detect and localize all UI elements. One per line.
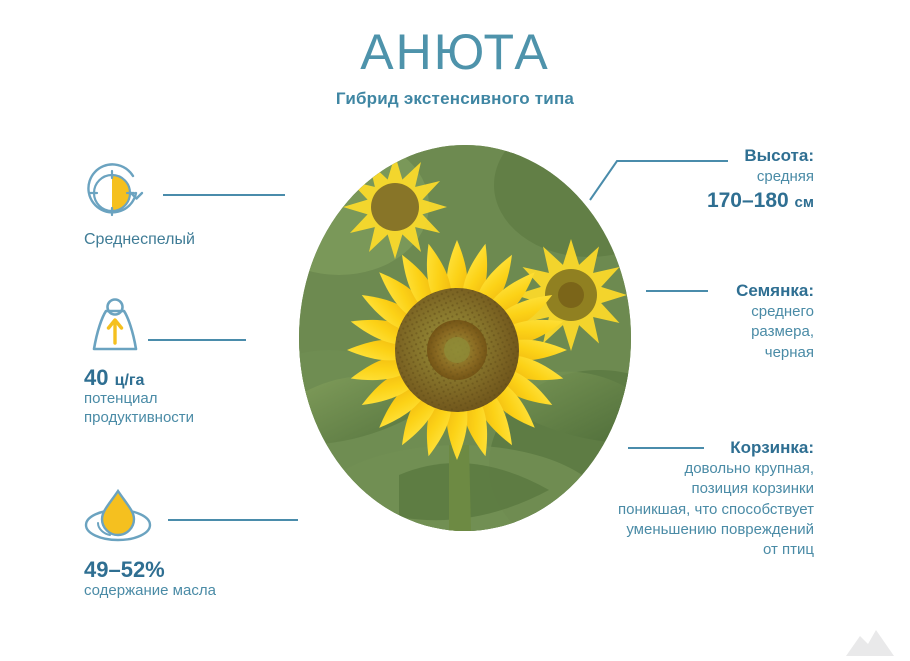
yield-caption-line-2: продуктивности — [84, 409, 194, 428]
head-line-4: уменьшению повреждений — [484, 520, 814, 540]
maturity-label: Среднеспелый — [84, 230, 195, 250]
yield-text: 40 ц/га потенциал продуктивности — [84, 365, 194, 428]
head-line-2: позиция корзинки — [484, 479, 814, 499]
maturity-text: Среднеспелый — [84, 230, 195, 250]
oil-text: 49–52% содержание масла — [84, 557, 216, 601]
oil-value: 49–52% — [84, 557, 216, 582]
page-subtitle: Гибрид экстенсивного типа — [0, 89, 910, 109]
leader-line-oil — [168, 519, 298, 521]
height-unit: см — [795, 194, 814, 211]
head-line-3: поникшая, что способствует — [484, 500, 814, 520]
seed-heading: Семянка: — [554, 280, 814, 302]
height-line-1: средняя — [554, 167, 814, 187]
right-item-head: Корзинка: довольно крупная, позиция корз… — [484, 437, 814, 560]
yield-caption-line-1: потенциал — [84, 390, 194, 409]
yield-number: 40 — [84, 365, 108, 390]
height-value: 170–180 см — [554, 187, 814, 214]
leader-line-yield — [148, 339, 246, 341]
head-line-5: от птиц — [484, 540, 814, 560]
leader-line-maturity — [163, 194, 285, 196]
header: АНЮТА Гибрид экстенсивного типа — [0, 26, 910, 109]
head-heading: Корзинка: — [484, 437, 814, 459]
height-number: 170–180 — [707, 189, 789, 212]
infographic-page: АНЮТА Гибрид экстенсивного типа — [0, 0, 910, 650]
page-title: АНЮТА — [0, 26, 910, 79]
weight-arrow-icon — [84, 297, 146, 359]
seed-line-1: среднего — [554, 302, 814, 322]
maturity-clock-icon — [84, 163, 146, 221]
head-line-1: довольно крупная, — [484, 459, 814, 479]
seed-line-2: размера, — [554, 322, 814, 342]
right-item-seed: Семянка: среднего размера, черная — [554, 280, 814, 363]
yield-value: 40 ц/га — [84, 365, 194, 390]
yield-unit: ц/га — [115, 372, 145, 389]
oil-drop-icon — [82, 487, 154, 545]
corner-watermark — [830, 610, 910, 656]
right-item-height: Высота: средняя 170–180 см — [554, 145, 814, 215]
height-heading: Высота: — [554, 145, 814, 167]
oil-caption: содержание масла — [84, 582, 216, 601]
seed-line-3: черная — [554, 343, 814, 363]
